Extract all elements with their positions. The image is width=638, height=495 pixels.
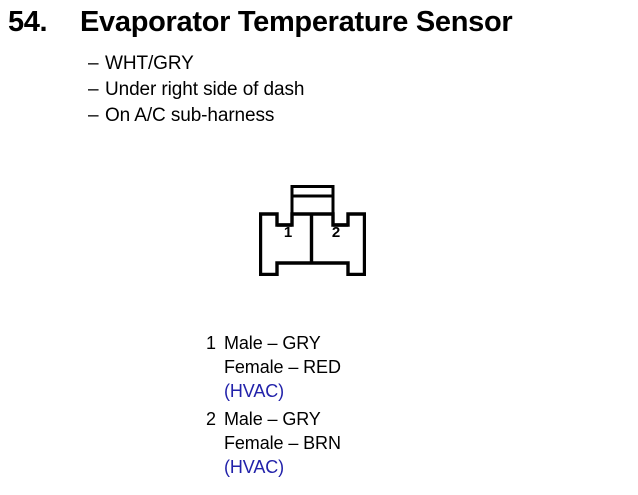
pin-entry-details: Male – GRY Female – RED (HVAC) xyxy=(224,331,498,403)
pin-entry-number: 2 xyxy=(198,407,216,431)
section-number: 54. xyxy=(8,6,80,39)
list-item: –On A/C sub-harness xyxy=(88,103,508,129)
pin-female-wire: Female – RED xyxy=(224,355,498,379)
dash-icon: – xyxy=(88,77,105,103)
list-item-label: Under right side of dash xyxy=(105,79,304,100)
connector-latch-tab xyxy=(292,187,333,215)
list-item: –Under right side of dash xyxy=(88,77,508,103)
description-list: –WHT/GRY –Under right side of dash –On A… xyxy=(88,51,508,129)
list-item-label: On A/C sub-harness xyxy=(105,105,274,126)
pin-entry-details: Male – GRY Female – BRN (HVAC) xyxy=(224,407,498,479)
pin-entry: 1 Male – GRY Female – RED (HVAC) xyxy=(198,331,498,403)
pin-system-note: (HVAC) xyxy=(224,379,498,403)
pin-entry-number: 1 xyxy=(198,331,216,355)
list-item: –WHT/GRY xyxy=(88,51,508,77)
connector-diagram: 1 2 xyxy=(259,185,366,276)
connector-illustration: 1 2 xyxy=(259,185,366,276)
page-header: 54. Evaporator Temperature Sensor xyxy=(0,6,638,40)
dash-icon: – xyxy=(88,51,105,77)
pin-male-wire: Male – GRY xyxy=(224,331,498,355)
pin-female-wire: Female – BRN xyxy=(224,431,498,455)
dash-icon: – xyxy=(88,103,105,129)
pin-legend: 1 Male – GRY Female – RED (HVAC) 2 Male … xyxy=(198,331,498,483)
pin-number-2-label: 2 xyxy=(332,224,340,241)
list-item-label: WHT/GRY xyxy=(105,53,194,74)
pin-entry: 2 Male – GRY Female – BRN (HVAC) xyxy=(198,407,498,479)
pin-number-1-label: 1 xyxy=(284,224,292,241)
page-title: Evaporator Temperature Sensor xyxy=(80,6,512,39)
pin-system-note: (HVAC) xyxy=(224,455,498,479)
pin-male-wire: Male – GRY xyxy=(224,407,498,431)
